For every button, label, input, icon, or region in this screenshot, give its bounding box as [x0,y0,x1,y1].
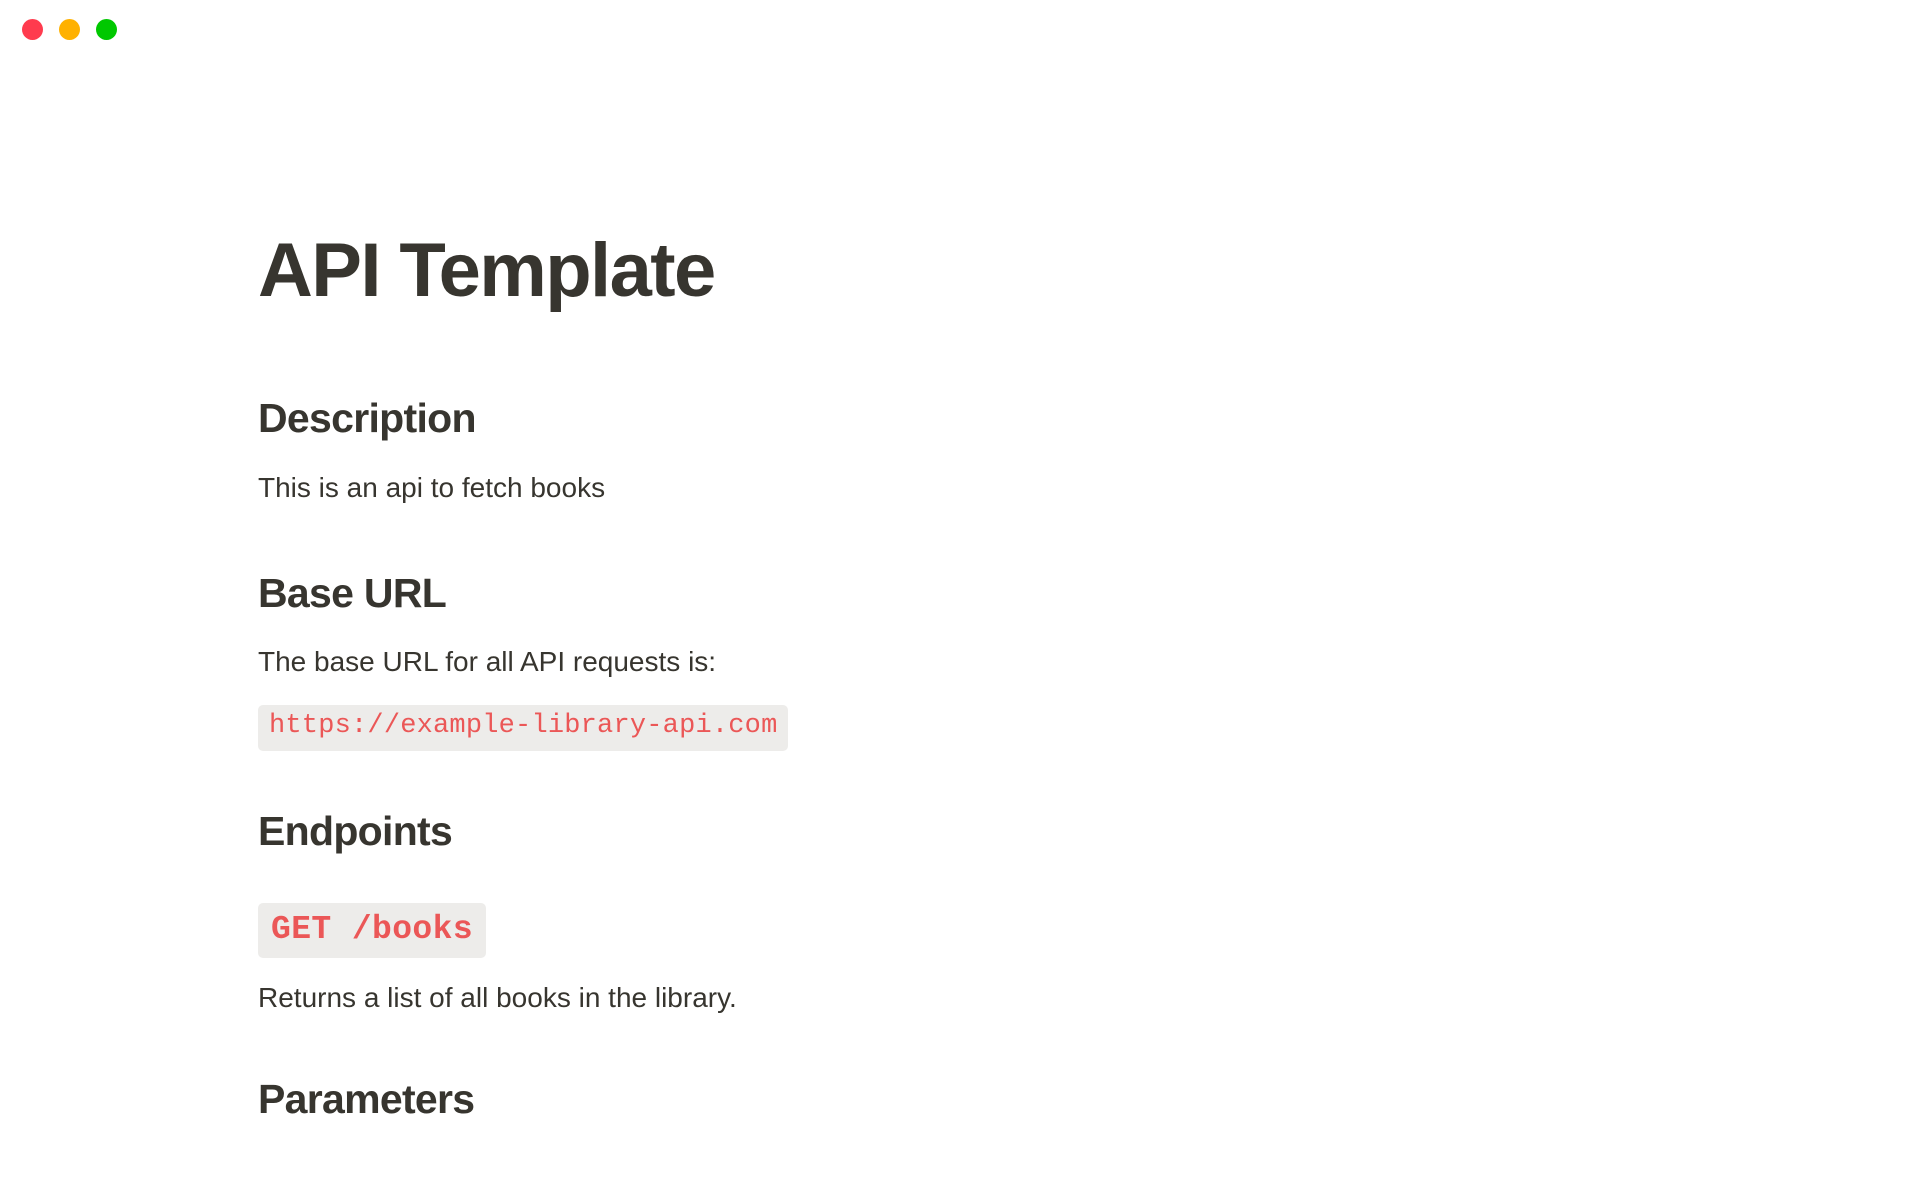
base-url-heading[interactable]: Base URL [258,571,1400,617]
section-endpoints: Endpoints GET /books Returns a list of a… [258,809,1400,1019]
section-description: Description This is an api to fetch book… [258,396,1400,509]
minimize-window-button[interactable] [59,19,80,40]
base-url-paragraph[interactable]: The base URL for all API requests is: [258,642,1400,683]
close-window-button[interactable] [22,19,43,40]
document-content: API Template Description This is an api … [0,62,1400,1122]
page-title[interactable]: API Template [258,230,1400,312]
description-paragraph[interactable]: This is an api to fetch books [258,468,1400,509]
window-title-bar [0,0,1920,62]
base-url-code-line: https://example-library-api.com [258,705,1400,751]
window-controls [22,19,117,40]
description-heading[interactable]: Description [258,396,1400,442]
maximize-window-button[interactable] [96,19,117,40]
endpoints-heading[interactable]: Endpoints [258,809,1400,855]
base-url-code-chip[interactable]: https://example-library-api.com [258,705,788,751]
section-base-url: Base URL The base URL for all API reques… [258,571,1400,751]
endpoint-code-line: GET /books [258,903,1400,958]
section-parameters: Parameters [258,1077,1400,1123]
parameters-heading[interactable]: Parameters [258,1077,1400,1123]
document-scroll-area[interactable]: API Template Description This is an api … [0,62,1920,1200]
endpoint-description-paragraph[interactable]: Returns a list of all books in the libra… [258,978,1400,1019]
endpoint-get-books-chip[interactable]: GET /books [258,903,486,958]
